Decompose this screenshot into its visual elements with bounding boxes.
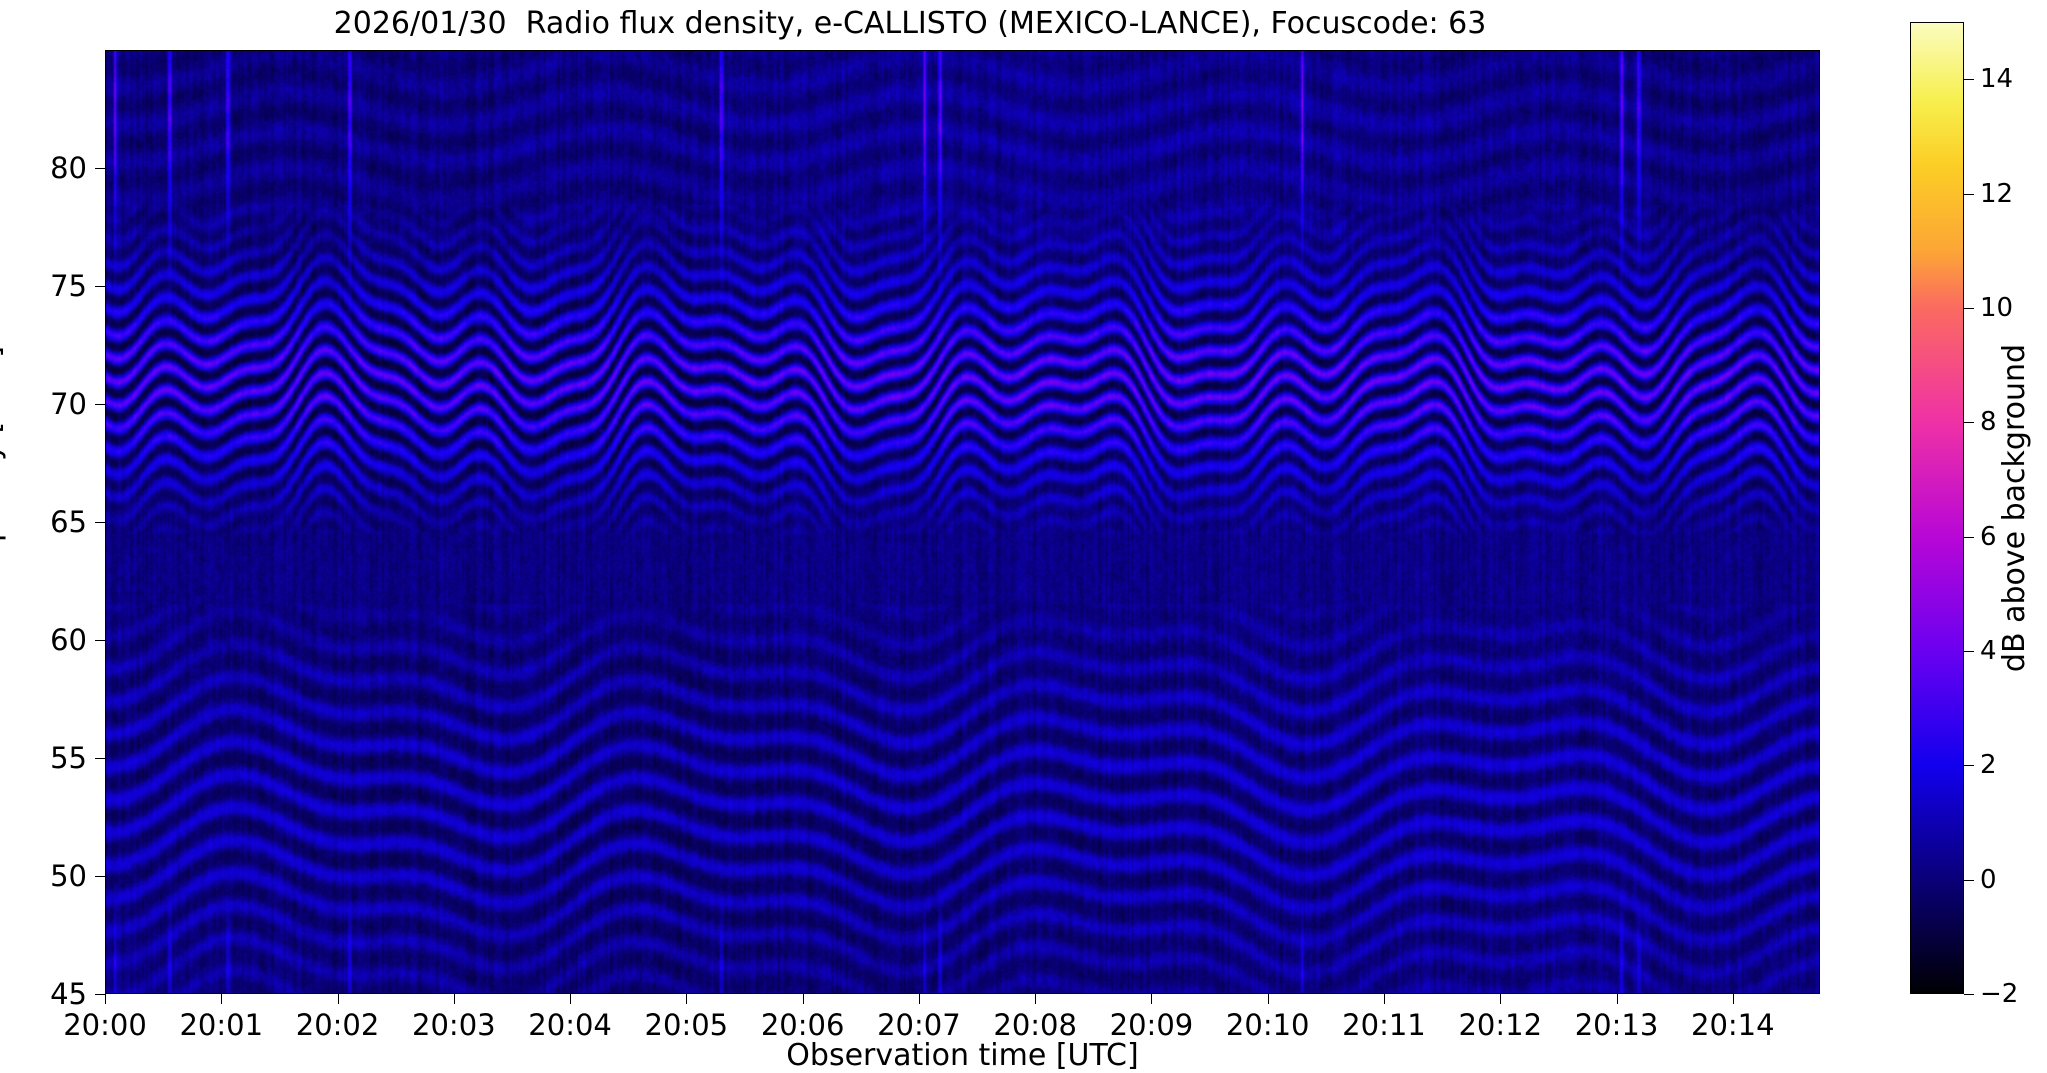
y-axis-tick: [95, 404, 105, 405]
colorbar-tick: [1964, 194, 1974, 195]
x-axis-tick: [919, 994, 920, 1004]
x-axis-tick: [1384, 994, 1385, 1004]
y-axis-tick-label: 55: [50, 741, 87, 775]
y-axis-tick: [95, 522, 105, 523]
x-axis-tick-label: 20:00: [63, 1008, 147, 1042]
x-axis-tick: [221, 994, 222, 1004]
y-axis-label: Frequency [MHz]: [0, 0, 10, 944]
x-axis-tick-label: 20:13: [1575, 1008, 1659, 1042]
x-axis-tick-label: 20:14: [1691, 1008, 1775, 1042]
x-axis-tick: [1733, 994, 1734, 1004]
colorbar-label: dB above background: [1995, 22, 2035, 994]
figure-title: 2026/01/30 Radio flux density, e-CALLIST…: [0, 6, 1820, 41]
x-axis-tick: [686, 994, 687, 1004]
x-axis-tick-label: 20:02: [296, 1008, 380, 1042]
y-axis-tick: [95, 876, 105, 877]
x-axis-tick: [1617, 994, 1618, 1004]
colorbar-tick: [1964, 422, 1974, 423]
x-axis-tick: [1151, 994, 1152, 1004]
x-axis-label: Observation time [UTC]: [105, 1038, 1820, 1073]
y-axis-tick: [95, 286, 105, 287]
colorbar-tick: [1964, 880, 1974, 881]
y-axis-tick: [95, 640, 105, 641]
x-axis-tick-label: 20:12: [1458, 1008, 1542, 1042]
colorbar-container[interactable]: 14121086420−2: [1910, 22, 1964, 994]
y-axis-tick-label: 60: [50, 623, 87, 657]
colorbar-tick: [1964, 994, 1974, 995]
y-axis-tick-label: 45: [50, 977, 87, 1011]
x-axis-tick: [454, 994, 455, 1004]
y-axis-tick: [95, 168, 105, 169]
y-axis-tick: [95, 994, 105, 995]
x-axis-tick-label: 20:08: [993, 1008, 1077, 1042]
y-axis-tick-label: 50: [50, 859, 87, 893]
y-axis-tick-label: 80: [50, 151, 87, 185]
spectrogram-plot-area[interactable]: [105, 50, 1820, 994]
x-axis-tick-label: 20:09: [1110, 1008, 1194, 1042]
colorbar-tick: [1964, 79, 1974, 80]
colorbar-tick: [1964, 651, 1974, 652]
colorbar-tick: [1964, 308, 1974, 309]
x-axis-tick-label: 20:07: [877, 1008, 961, 1042]
x-axis-tick: [338, 994, 339, 1004]
x-axis-tick-label: 20:11: [1342, 1008, 1426, 1042]
x-axis-tick: [570, 994, 571, 1004]
y-axis-tick-label: 70: [50, 387, 87, 421]
y-axis-tick-label: 75: [50, 269, 87, 303]
x-axis-tick-label: 20:10: [1226, 1008, 1310, 1042]
x-axis-tick: [105, 994, 106, 1004]
colorbar-tick: [1964, 537, 1974, 538]
x-axis-tick-label: 20:03: [412, 1008, 496, 1042]
x-axis-tick-label: 20:01: [179, 1008, 263, 1042]
y-axis-tick-label: 65: [50, 505, 87, 539]
colorbar-gradient: [1910, 22, 1964, 994]
y-axis-tick: [95, 758, 105, 759]
x-axis-tick-label: 20:05: [645, 1008, 729, 1042]
x-axis-tick: [1035, 994, 1036, 1004]
x-axis-tick-label: 20:04: [528, 1008, 612, 1042]
spectrogram-image: [106, 51, 1819, 993]
x-axis-tick: [1268, 994, 1269, 1004]
x-axis-tick: [803, 994, 804, 1004]
x-axis-tick: [1500, 994, 1501, 1004]
x-axis-tick-label: 20:06: [761, 1008, 845, 1042]
colorbar-tick: [1964, 765, 1974, 766]
spectrogram-figure: 2026/01/30 Radio flux density, e-CALLIST…: [0, 0, 2047, 1067]
